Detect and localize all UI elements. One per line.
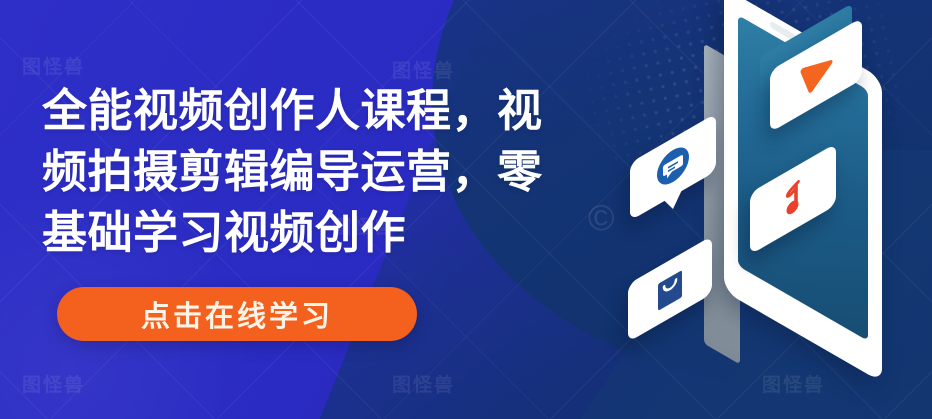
play-icon	[797, 47, 835, 103]
page-title: 全能视频创作人课程，视 频拍摄剪辑编导运营，零 基础学习视频创作	[42, 80, 702, 264]
music-note-icon	[776, 170, 810, 228]
cta-button[interactable]: 点击在线学习	[57, 287, 417, 341]
headline-line-1: 全能视频创作人课程，视	[42, 80, 702, 141]
promo-banner: 图怪兽 图怪兽 图怪兽 图怪兽 图怪兽 图怪兽 图怪兽 © 全能视频创作人课程，…	[0, 0, 932, 419]
chat-card-tail	[664, 190, 682, 214]
isometric-phone-illustration	[620, 10, 932, 410]
headline-line-3: 基础学习视频创作	[42, 202, 702, 263]
chat-bubble-icon	[652, 135, 694, 199]
shopping-bag-icon	[652, 259, 688, 320]
card-shopping-bag[interactable]	[628, 236, 712, 342]
headline-line-2: 频拍摄剪辑编导运营，零	[42, 141, 702, 202]
